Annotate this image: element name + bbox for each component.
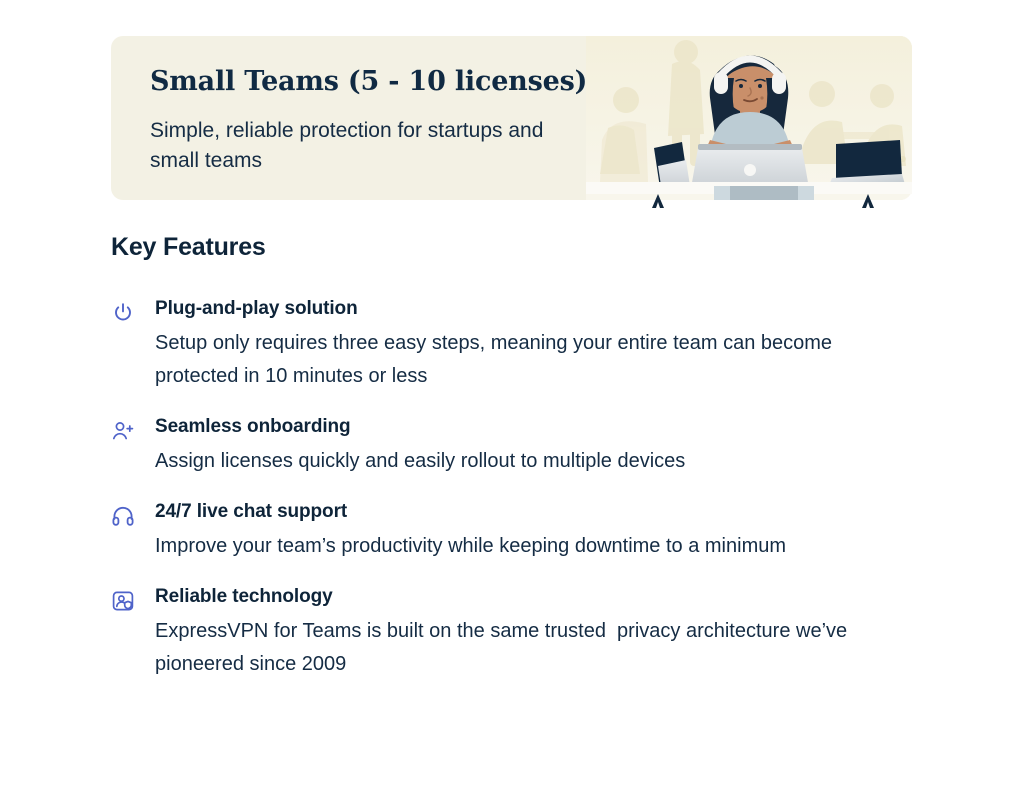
marketing-feature-card: Small Teams (5 - 10 licenses) Simple, re… (0, 0, 1024, 790)
feature-heading: 24/7 live chat support (155, 500, 921, 524)
plan-subtitle: Simple, reliable protection for startups… (150, 116, 590, 176)
feature-item: Reliable technology ExpressVPN for Teams… (111, 585, 921, 681)
feature-description: ExpressVPN for Teams is built on the sam… (155, 615, 915, 681)
desk (586, 182, 912, 212)
feature-description: Setup only requires three easy steps, me… (155, 327, 915, 393)
desk-leg-right (862, 194, 874, 208)
feature-description: Assign licenses quickly and easily rollo… (155, 445, 915, 478)
banner-illustration (586, 36, 912, 200)
feature-list: Plug-and-play solution Setup only requir… (111, 297, 921, 681)
feature-heading: Reliable technology (155, 585, 921, 609)
feature-item: Seamless onboarding Assign licenses quic… (111, 415, 921, 478)
feature-item: Plug-and-play solution Setup only requir… (111, 297, 921, 393)
tablet (828, 140, 906, 188)
power-icon (111, 297, 155, 393)
user-shield-badge-icon (111, 585, 155, 681)
feature-description: Improve your team’s productivity while k… (155, 530, 915, 563)
plan-title: Small Teams (5 - 10 licenses) (150, 66, 587, 97)
user-plus-icon (111, 415, 155, 478)
headphones-icon (111, 500, 155, 563)
feature-heading: Seamless onboarding (155, 415, 921, 439)
feature-item: 24/7 live chat support Improve your team… (111, 500, 921, 563)
key-features-heading: Key Features (111, 233, 266, 262)
feature-heading: Plug-and-play solution (155, 297, 921, 321)
desk-leg-left (652, 194, 664, 208)
